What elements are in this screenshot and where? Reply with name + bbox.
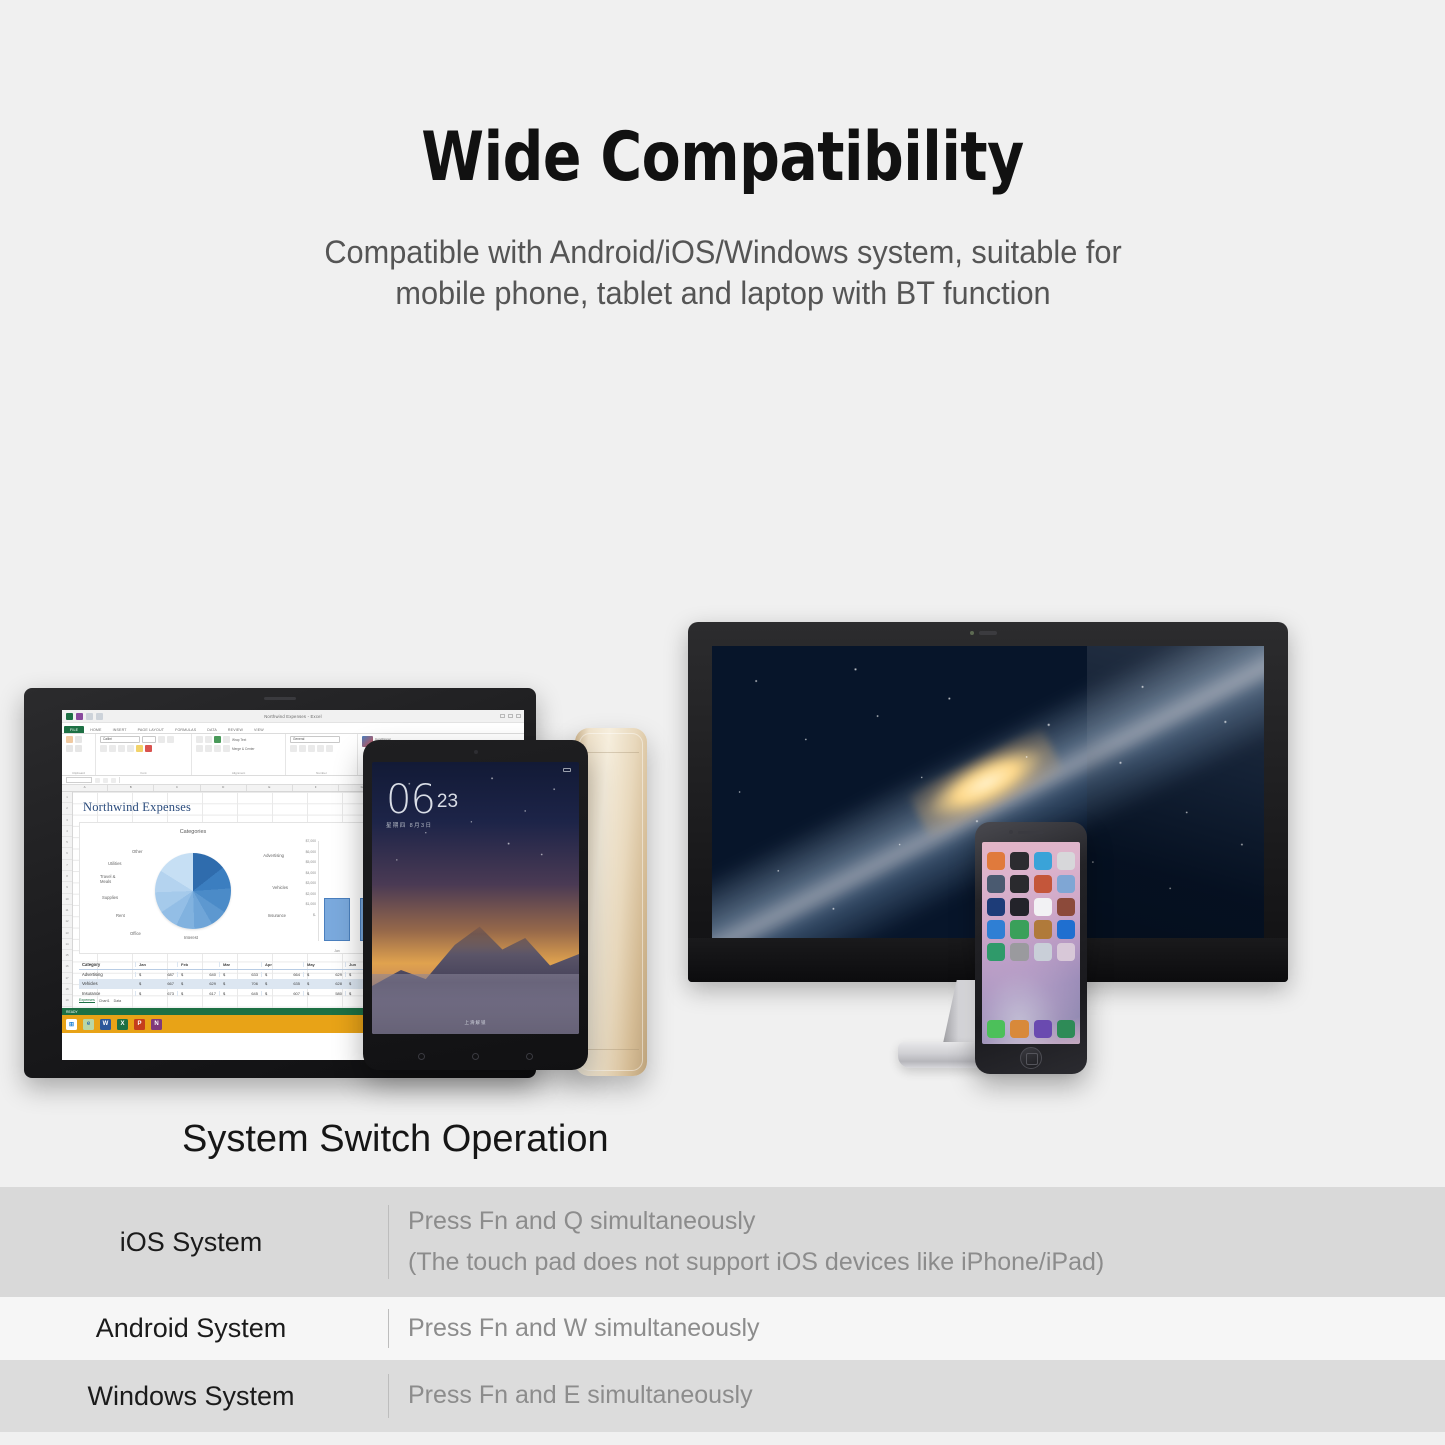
- excel-row-header[interactable]: 14: [62, 939, 72, 950]
- bar-chart-tick: $4,000: [294, 871, 316, 882]
- ribbon-group-label-number: Number: [286, 771, 357, 775]
- number-format-select[interactable]: General: [290, 736, 340, 743]
- table-row: Windows System Press Fn and E simultaneo…: [0, 1360, 1445, 1432]
- column-header-c[interactable]: C: [154, 785, 200, 791]
- decrease-font-icon[interactable]: [167, 736, 174, 743]
- messages-app-icon[interactable]: [1057, 1020, 1075, 1038]
- excel-table-cell[interactable]: $633: [219, 972, 261, 977]
- sheet-tab-chart1[interactable]: Chart1: [99, 999, 110, 1003]
- row-description-android: Press Fn and W simultaneously: [388, 1308, 760, 1349]
- pie-label-insurance: Insurance: [268, 913, 286, 918]
- app-icon[interactable]: [1010, 943, 1028, 961]
- internet-explorer-icon[interactable]: e: [83, 1019, 94, 1030]
- app-icon[interactable]: [1057, 920, 1075, 938]
- recents-key-icon[interactable]: [526, 1053, 533, 1060]
- row-description-windows: Press Fn and E simultaneously: [388, 1375, 753, 1416]
- excel-row-header[interactable]: 6: [62, 848, 72, 859]
- app-icon[interactable]: [1057, 943, 1075, 961]
- bar-chart-tick: $-: [294, 913, 316, 924]
- column-header-e[interactable]: E: [247, 785, 293, 791]
- align-middle-icon[interactable]: [205, 736, 212, 743]
- excel-row-header[interactable]: 15: [62, 950, 72, 961]
- app-icon[interactable]: [1034, 875, 1052, 893]
- row-label-ios: iOS System: [0, 1227, 388, 1258]
- excel-row-header[interactable]: 3: [62, 815, 72, 826]
- app-icon[interactable]: [987, 852, 1005, 870]
- windows-instruction: Press Fn and E simultaneously: [408, 1375, 753, 1416]
- italic-icon[interactable]: [109, 745, 116, 752]
- ios-note: (The touch pad does not support iOS devi…: [408, 1242, 1104, 1283]
- wrap-text-label[interactable]: Wrap Text: [232, 738, 246, 742]
- excel-table-cell[interactable]: $607: [261, 991, 303, 996]
- paste-icon[interactable]: [66, 736, 73, 743]
- row-divider: [388, 1309, 389, 1348]
- ribbon-group-number[interactable]: General Number: [286, 734, 358, 775]
- tablet-screen[interactable]: 0623 星期四 8月3日 上滑解锁: [372, 762, 579, 1034]
- copy-icon[interactable]: [66, 745, 73, 752]
- cut-icon[interactable]: [75, 736, 82, 743]
- ribbon-group-label-clipboard: Clipboard: [62, 771, 95, 775]
- ribbon-group-alignment[interactable]: Wrap Text Merge & Center Alignment: [192, 734, 286, 775]
- excel-taskbar-icon[interactable]: X: [117, 1019, 128, 1030]
- bar-category-label: Jan: [324, 949, 350, 953]
- app-icon[interactable]: [1010, 898, 1028, 916]
- currency-icon[interactable]: [290, 745, 297, 752]
- tablet-nav-keys[interactable]: [363, 1053, 588, 1060]
- phone-home-button[interactable]: [1020, 1047, 1042, 1069]
- excel-table-cell[interactable]: Advertising: [79, 972, 135, 977]
- bar-chart-tick: $1,000: [294, 902, 316, 913]
- bar-chart-tick: $2,000: [294, 892, 316, 903]
- merge-center-label[interactable]: Merge & Center: [232, 747, 255, 751]
- format-painter-icon[interactable]: [75, 745, 82, 752]
- excel-document-title: Northwind Expenses - Excel: [62, 714, 524, 719]
- ribbon-tab-page-layout[interactable]: PAGE LAYOUT: [133, 728, 169, 734]
- gold-antenna-line-top: [583, 752, 639, 753]
- align-top-icon[interactable]: [196, 736, 203, 743]
- pie-label-utilities: Utilities: [108, 861, 122, 866]
- excel-title-bar: Northwind Expenses - Excel: [62, 710, 524, 723]
- excel-table-cell[interactable]: $706: [219, 981, 261, 986]
- app-icon[interactable]: [1034, 852, 1052, 870]
- excel-row-header[interactable]: 5: [62, 837, 72, 848]
- clock-minutes: 23: [437, 791, 458, 812]
- excel-row-header[interactable]: 10: [62, 894, 72, 905]
- align-right-icon[interactable]: [214, 745, 221, 752]
- phone-app-grid[interactable]: [987, 852, 1075, 961]
- phone-dock[interactable]: [987, 1020, 1075, 1038]
- insert-function-icon[interactable]: [111, 778, 116, 783]
- excel-ribbon-tabs[interactable]: FILE HOME INSERT PAGE LAYOUT FORMULAS DA…: [62, 723, 524, 734]
- back-key-icon[interactable]: [418, 1053, 425, 1060]
- phone-camera-icon: [1009, 830, 1013, 834]
- pie-chart-title: Categories: [98, 829, 288, 835]
- phone-earpiece-icon: [1018, 831, 1044, 834]
- bar-chart-tick: $3,000: [294, 881, 316, 892]
- percent-icon[interactable]: [299, 745, 306, 752]
- page-root: Wide Compatibility Compatible with Andro…: [0, 0, 1445, 1445]
- pie-label-vehicles: Vehicles: [272, 885, 288, 890]
- app-icon[interactable]: [1010, 920, 1028, 938]
- excel-row-header[interactable]: 9: [62, 882, 72, 893]
- font-size-input[interactable]: [142, 736, 156, 743]
- ribbon-group-label-font: Font: [96, 771, 191, 775]
- start-button-icon[interactable]: ⊞: [66, 1019, 77, 1030]
- ribbon-tab-home[interactable]: HOME: [85, 728, 106, 734]
- powerpoint-icon[interactable]: P: [134, 1019, 145, 1030]
- pie-label-advertising: Advertising: [263, 853, 284, 858]
- ribbon-tab-data[interactable]: DATA: [202, 728, 222, 734]
- row-description-ios: Press Fn and Q simultaneously (The touch…: [388, 1201, 1104, 1284]
- column-header-b[interactable]: B: [108, 785, 154, 791]
- ios-instruction: Press Fn and Q simultaneously: [408, 1201, 1104, 1242]
- phone-screen[interactable]: [982, 842, 1080, 1044]
- orientation-icon[interactable]: [223, 736, 230, 743]
- pie-label-other: Other: [132, 849, 142, 854]
- pie-chart: Categories Advertising Vehicles Insuranc…: [98, 827, 288, 955]
- excel-row-header[interactable]: 12: [62, 916, 72, 927]
- subtitle-line-2: mobile phone, tablet and laptop with BT …: [262, 273, 1184, 314]
- excel-table-cell[interactable]: $617: [177, 991, 219, 996]
- table-row: Android System Press Fn and W simultaneo…: [0, 1297, 1445, 1360]
- excel-table-column-header[interactable]: Apr: [261, 962, 303, 967]
- excel-row-header[interactable]: 11: [62, 905, 72, 916]
- clock-hours: 06: [386, 777, 435, 823]
- app-icon[interactable]: [1057, 898, 1075, 916]
- excel-table-cell[interactable]: $640: [177, 972, 219, 977]
- page-title: Wide Compatibility: [51, 118, 1395, 197]
- excel-row-header[interactable]: 13: [62, 928, 72, 939]
- excel-row-header[interactable]: 19: [62, 995, 72, 1006]
- comma-icon[interactable]: [308, 745, 315, 752]
- excel-row-header[interactable]: 4: [62, 826, 72, 837]
- app-icon[interactable]: [1010, 852, 1028, 870]
- bar-chart-axis: [318, 841, 319, 941]
- excel-row-header[interactable]: 1: [62, 792, 72, 803]
- font-name-input[interactable]: Calibri: [100, 736, 140, 743]
- excel-row-header[interactable]: 7: [62, 860, 72, 871]
- excel-table-cell[interactable]: $645: [219, 991, 261, 996]
- sheet-tab-data[interactable]: Data: [114, 999, 122, 1003]
- column-header-a[interactable]: A: [62, 785, 108, 791]
- excel-table-cell[interactable]: $673: [135, 991, 177, 996]
- section-title: System Switch Operation: [182, 1118, 609, 1161]
- app-icon[interactable]: [1034, 920, 1052, 938]
- app-icon[interactable]: [1034, 898, 1052, 916]
- excel-sheet-tabs[interactable]: Expenses Chart1 Data: [79, 998, 121, 1003]
- excel-table-column-header[interactable]: Mar: [219, 962, 261, 967]
- excel-row-header[interactable]: 2: [62, 803, 72, 814]
- pie-label-office: Office: [130, 931, 141, 936]
- music-app-icon[interactable]: [1034, 1020, 1052, 1038]
- tablet-camera-icon: [474, 750, 478, 754]
- app-icon[interactable]: [987, 875, 1005, 893]
- excel-table-cell[interactable]: $628: [303, 981, 345, 986]
- worksheet-heading: Northwind Expenses: [83, 800, 191, 815]
- excel-row-header[interactable]: 18: [62, 984, 72, 995]
- row-label-android: Android System: [0, 1313, 388, 1344]
- align-left-icon[interactable]: [196, 745, 203, 752]
- app-icon[interactable]: [1034, 943, 1052, 961]
- maximize-icon[interactable]: [508, 714, 513, 718]
- ribbon-tab-formulas[interactable]: FORMULAS: [170, 728, 201, 734]
- bar-chart-tick: $7,000: [294, 839, 316, 850]
- lockscreen-date: 星期四 8月3日: [386, 824, 458, 830]
- device-showcase: Northwind Expenses - Excel FILE HOME INS…: [0, 600, 1445, 1100]
- pie-label-supplies: Supplies: [102, 895, 118, 900]
- pie-label-rent: Rent: [116, 913, 125, 918]
- excel-table-cell[interactable]: $664: [261, 972, 303, 977]
- home-key-icon[interactable]: [472, 1053, 479, 1060]
- decrease-indent-icon[interactable]: [223, 745, 230, 752]
- ribbon-tab-insert[interactable]: INSERT: [108, 728, 132, 734]
- smartphone-device: [975, 822, 1087, 1074]
- row-divider: [388, 1374, 389, 1418]
- bar-chart-tick: $6,000: [294, 850, 316, 861]
- fill-color-icon[interactable]: [136, 745, 143, 752]
- pie-label-travel-meals: Travel & Meals: [100, 875, 124, 885]
- battery-icon: [563, 768, 571, 772]
- word-icon[interactable]: W: [100, 1019, 111, 1030]
- close-icon[interactable]: [516, 714, 521, 718]
- gold-device-edge: [579, 733, 643, 1071]
- font-color-icon[interactable]: [145, 745, 152, 752]
- pie-chart-slices: [155, 853, 231, 929]
- sheet-tab-expenses[interactable]: Expenses: [79, 998, 95, 1003]
- excel-table-column-header[interactable]: Jan: [135, 962, 177, 967]
- excel-row-header[interactable]: 17: [62, 973, 72, 984]
- align-bottom-icon[interactable]: [214, 736, 221, 743]
- excel-table-cell[interactable]: $687: [135, 972, 177, 977]
- row-divider: [388, 1205, 389, 1279]
- safari-app-icon[interactable]: [1010, 1020, 1028, 1038]
- excel-table-column-header[interactable]: Category: [79, 962, 135, 967]
- monitor-camera-icon: [979, 631, 997, 635]
- system-switch-table: iOS System Press Fn and Q simultaneously…: [0, 1187, 1445, 1432]
- excel-row-header[interactable]: 16: [62, 961, 72, 972]
- underline-icon[interactable]: [118, 745, 125, 752]
- column-header-f[interactable]: F: [293, 785, 339, 791]
- tablet-device: 0623 星期四 8月3日 上滑解锁: [363, 740, 588, 1070]
- ribbon-group-font[interactable]: Calibri Font: [96, 734, 192, 775]
- phone-app-icon[interactable]: [987, 1020, 1005, 1038]
- bar-chart-tick: $5,000: [294, 860, 316, 871]
- row-label-windows: Windows System: [0, 1381, 388, 1412]
- laptop-camera-icon: [264, 697, 296, 700]
- app-icon[interactable]: [1010, 875, 1028, 893]
- excel-table-column-header[interactable]: Feb: [177, 962, 219, 967]
- name-box[interactable]: [66, 777, 92, 783]
- app-icon[interactable]: [987, 898, 1005, 916]
- bar-chart-y-ticks: $7,000$6,000$5,000$4,000$3,000$2,000$1,0…: [294, 839, 316, 923]
- android-instruction: Press Fn and W simultaneously: [408, 1308, 760, 1349]
- window-controls[interactable]: [500, 714, 521, 718]
- borders-icon[interactable]: [127, 745, 134, 752]
- excel-row-headers[interactable]: 12345678910111213141516171819: [62, 792, 73, 1008]
- table-row: iOS System Press Fn and Q simultaneously…: [0, 1187, 1445, 1297]
- subtitle-line-1: Compatible with Android/iOS/Windows syst…: [262, 232, 1184, 273]
- ribbon-group-label-alignment: Alignment: [192, 771, 285, 775]
- increase-decimal-icon[interactable]: [317, 745, 324, 752]
- excel-table-cell[interactable]: Vehicles: [79, 981, 135, 986]
- ribbon-tab-file[interactable]: FILE: [64, 726, 84, 733]
- minimize-icon[interactable]: [500, 714, 505, 718]
- app-icon[interactable]: [1057, 875, 1075, 893]
- excel-table-cell[interactable]: Insurance: [79, 991, 135, 996]
- pie-label-interest: Interest: [184, 935, 198, 940]
- tablet-lockscreen-clock: 0623 星期四 8月3日: [386, 780, 458, 830]
- decrease-decimal-icon[interactable]: [326, 745, 333, 752]
- ribbon-tab-review[interactable]: REVIEW: [223, 728, 248, 734]
- app-icon[interactable]: [1057, 852, 1075, 870]
- excel-table-cell[interactable]: $635: [261, 981, 303, 986]
- excel-row-header[interactable]: 8: [62, 871, 72, 882]
- app-icon[interactable]: [987, 920, 1005, 938]
- page-subtitle: Compatible with Android/iOS/Windows syst…: [262, 232, 1184, 314]
- excel-table-cell[interactable]: $580: [303, 991, 345, 996]
- app-icon[interactable]: [987, 943, 1005, 961]
- gold-antenna-line-bottom: [583, 1049, 639, 1050]
- unlock-hint: 上滑解锁: [372, 1020, 579, 1026]
- cancel-formula-icon[interactable]: [95, 778, 100, 783]
- align-center-icon[interactable]: [205, 745, 212, 752]
- excel-table-column-header[interactable]: May: [303, 962, 345, 967]
- column-header-d[interactable]: D: [201, 785, 247, 791]
- ribbon-tab-view[interactable]: VIEW: [249, 728, 269, 734]
- confirm-formula-icon[interactable]: [103, 778, 108, 783]
- excel-table-cell[interactable]: $629: [303, 972, 345, 977]
- excel-table-cell[interactable]: $667: [135, 981, 177, 986]
- screen-glare: [1087, 646, 1264, 938]
- bar-jan: [324, 898, 350, 941]
- excel-table-cell[interactable]: $629: [177, 981, 219, 986]
- increase-font-icon[interactable]: [158, 736, 165, 743]
- onenote-icon[interactable]: N: [151, 1019, 162, 1030]
- bold-icon[interactable]: [100, 745, 107, 752]
- ribbon-group-clipboard[interactable]: Clipboard: [62, 734, 96, 775]
